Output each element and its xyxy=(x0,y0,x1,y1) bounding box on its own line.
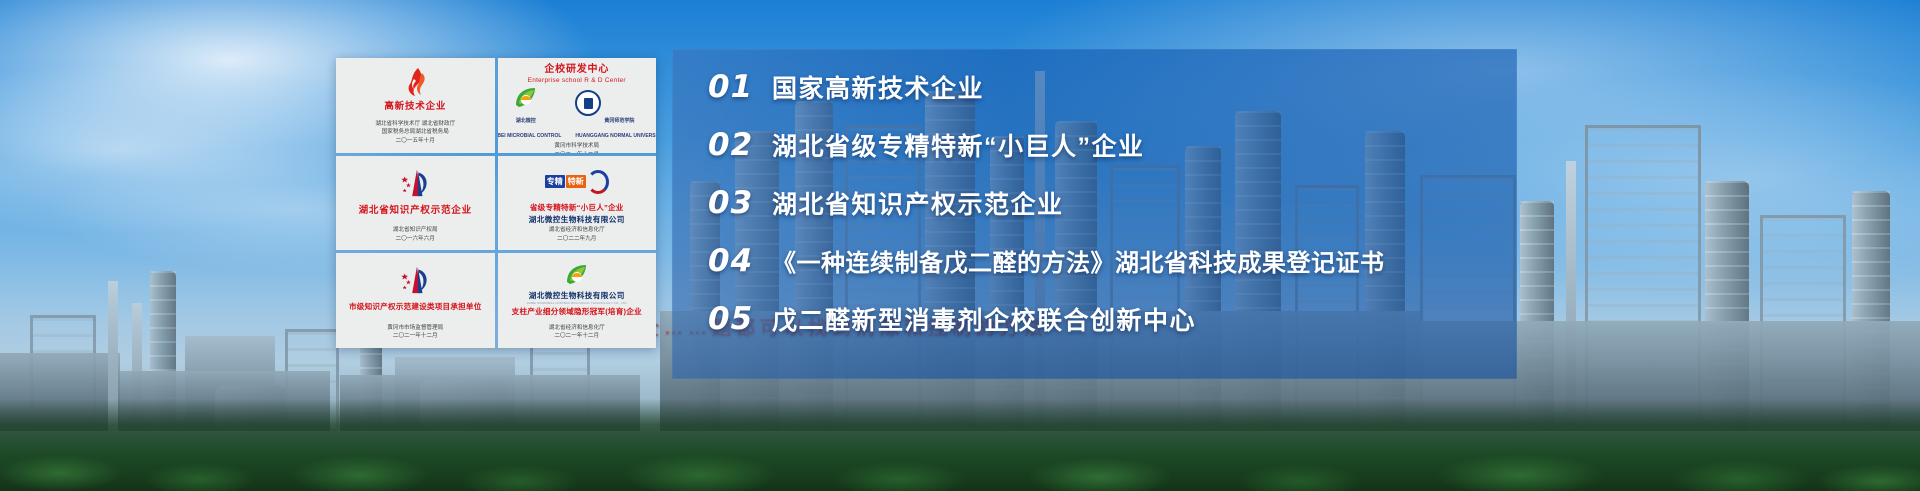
certificate-issuer: 湖北省经济和信息化厅 二〇二一年十二月 xyxy=(549,324,605,341)
certificate-card[interactable]: 湖北省知识产权示范企业 湖北省知识产权局 二〇一六年六月 xyxy=(336,156,495,251)
org-name-left: 湖北微控 xyxy=(498,117,562,124)
zjtx-mark: 专精 特新 xyxy=(545,170,609,194)
certificate-issuer: 湖北省知识产权局 二〇一六年六月 xyxy=(393,226,438,243)
green-bird-logo-icon xyxy=(513,85,539,111)
list-item-number: 05 xyxy=(708,301,772,337)
bird-icon xyxy=(564,262,590,288)
green-bird-logo-icon xyxy=(564,260,590,290)
certificate-issuer: 湖北省经济和信息化厅 二〇二二年九月 xyxy=(549,226,605,243)
certificate-issuer: 黄冈市科学技术局 二〇二一年十二月 xyxy=(554,142,599,153)
certificate-card[interactable]: 企校研发中心 Enterprise school R & D Center 湖北… xyxy=(498,58,657,153)
foreground-greenery xyxy=(0,399,1920,491)
issuer-line-1: 黄冈市市场监督管理局 xyxy=(387,324,443,333)
honors-list: 01 国家高新技术企业 02 湖北省级专精特新“小巨人”企业 03 湖北省知识产… xyxy=(708,69,1507,359)
flame-icon xyxy=(402,67,428,97)
ip-star-p-logo-icon xyxy=(398,163,432,203)
list-item-label: 国家高新技术企业 xyxy=(772,69,984,105)
certificate-subtitle: 湖北微控生物科技有限公司 xyxy=(529,214,625,225)
zhuanjingtexin-logo-icon: 专精 特新 xyxy=(545,163,609,201)
ip-mark-icon xyxy=(398,265,432,295)
certificate-card[interactable]: 湖北微控生物科技有限公司 HUBEI MICROBIAL CONTROL BIO… xyxy=(498,253,657,348)
list-item[interactable]: 03 湖北省知识产权示范企业 xyxy=(708,185,1507,243)
issuer-line-2: 国家税务总局湖北省税务局 xyxy=(375,128,455,137)
list-item-label: 《一种连续制备戊二醛的方法》湖北省科技成果登记证书 xyxy=(772,243,1385,278)
list-item[interactable]: 02 湖北省级专精特新“小巨人”企业 xyxy=(708,127,1507,185)
issue-date: 二〇二一年十二月 xyxy=(387,332,443,341)
certificate-subtitle: 湖北微控生物科技有限公司 xyxy=(529,290,625,301)
banner-stage: 全……题都可以找到消除和控制的方法 01 国家高新技术企业 02 湖北省级专精特… xyxy=(0,0,1920,491)
issue-date: 二〇二二年九月 xyxy=(549,235,605,244)
certificate-subtitle-en: HUBEI MICROBIAL CONTROL BIOLOGICAL TECHN… xyxy=(527,301,627,305)
issuer-line-1: 湖北省知识产权局 xyxy=(393,226,438,235)
certificate-title: 省级专精特新“小巨人”企业 xyxy=(530,203,624,212)
list-item[interactable]: 01 国家高新技术企业 xyxy=(708,69,1507,127)
flame-logo-icon xyxy=(402,65,428,99)
certificate-issuer: 湖北省科学技术厅 湖北省财政厅 国家税务总局湖北省税务局 二〇一五年十月 xyxy=(375,120,455,146)
certificate-title: 高新技术企业 xyxy=(384,101,446,112)
issue-date: 二〇二一年十二月 xyxy=(549,332,605,341)
issuer-line-1: 黄冈市科学技术局 xyxy=(554,142,599,151)
certificate-logos: 湖北微控 HUBEI MICROBIAL CONTROL 黄冈师范学院 HUAN… xyxy=(498,85,657,142)
list-item-number: 03 xyxy=(708,185,772,221)
issue-date: 二〇二一年十二月 xyxy=(554,151,599,153)
certificate-title: 湖北省知识产权示范企业 xyxy=(359,205,472,216)
certificate-title: 企校研发中心 xyxy=(544,64,609,76)
ip-mark-icon xyxy=(398,168,432,198)
zjtx-badge-2: 特新 xyxy=(566,175,586,188)
issuer-line-1: 湖北省经济和信息化厅 xyxy=(549,226,605,235)
issuer-line-1: 湖北省经济和信息化厅 xyxy=(549,324,605,333)
certificate-grid: 高新技术企业 湖北省科学技术厅 湖北省财政厅 国家税务总局湖北省税务局 二〇一五… xyxy=(336,58,656,348)
list-item[interactable]: 05 戊二醛新型消毒剂企校联合创新中心 xyxy=(708,301,1507,359)
org-name-right-en: HUANGGANG NORMAL UNIVERSITY xyxy=(575,133,656,139)
ip-star-p-logo-icon xyxy=(398,260,432,300)
list-item-label: 湖北省知识产权示范企业 xyxy=(772,185,1064,221)
list-item-number: 01 xyxy=(708,69,772,105)
certificate-card[interactable]: 高新技术企业 湖北省科学技术厅 湖北省财政厅 国家税务总局湖北省税务局 二〇一五… xyxy=(336,58,495,153)
zjtx-badge-1: 专精 xyxy=(545,175,565,188)
certificate-title: 支柱产业细分领域隐形冠军(培育)企业 xyxy=(512,307,642,316)
org-name-right: 黄冈师范学院 xyxy=(575,117,656,124)
org-name-left-en: HUBEI MICROBIAL CONTROL xyxy=(498,133,562,139)
certificate-card[interactable]: 专精 特新 省级专精特新“小巨人”企业 湖北微控生物科技有限公司 湖北省经济和信… xyxy=(498,156,657,251)
issuer-line-1: 湖北省科学技术厅 湖北省财政厅 xyxy=(375,120,455,129)
issue-date: 二〇一五年十月 xyxy=(375,137,455,146)
list-item-label: 湖北省级专精特新“小巨人”企业 xyxy=(772,127,1145,163)
certificate-title-en: Enterprise school R & D Center xyxy=(528,77,626,84)
certificate-issuer: 黄冈市市场监督管理局 二〇二一年十二月 xyxy=(387,324,443,341)
list-item[interactable]: 04 《一种连续制备戊二醛的方法》湖北省科技成果登记证书 xyxy=(708,243,1507,301)
zjtx-arc-icon xyxy=(587,170,609,194)
university-seal-icon xyxy=(575,90,601,116)
list-item-number: 04 xyxy=(708,243,772,279)
certificate-card[interactable]: 市级知识产权示范建设类项目承担单位 黄冈市市场监督管理局 二〇二一年十二月 xyxy=(336,253,495,348)
issue-date: 二〇一六年六月 xyxy=(393,235,438,244)
honors-panel: 01 国家高新技术企业 02 湖北省级专精特新“小巨人”企业 03 湖北省知识产… xyxy=(672,49,1517,379)
list-item-number: 02 xyxy=(708,127,772,163)
certificate-title: 市级知识产权示范建设类项目承担单位 xyxy=(349,302,482,311)
list-item-label: 戊二醛新型消毒剂企校联合创新中心 xyxy=(772,301,1196,337)
